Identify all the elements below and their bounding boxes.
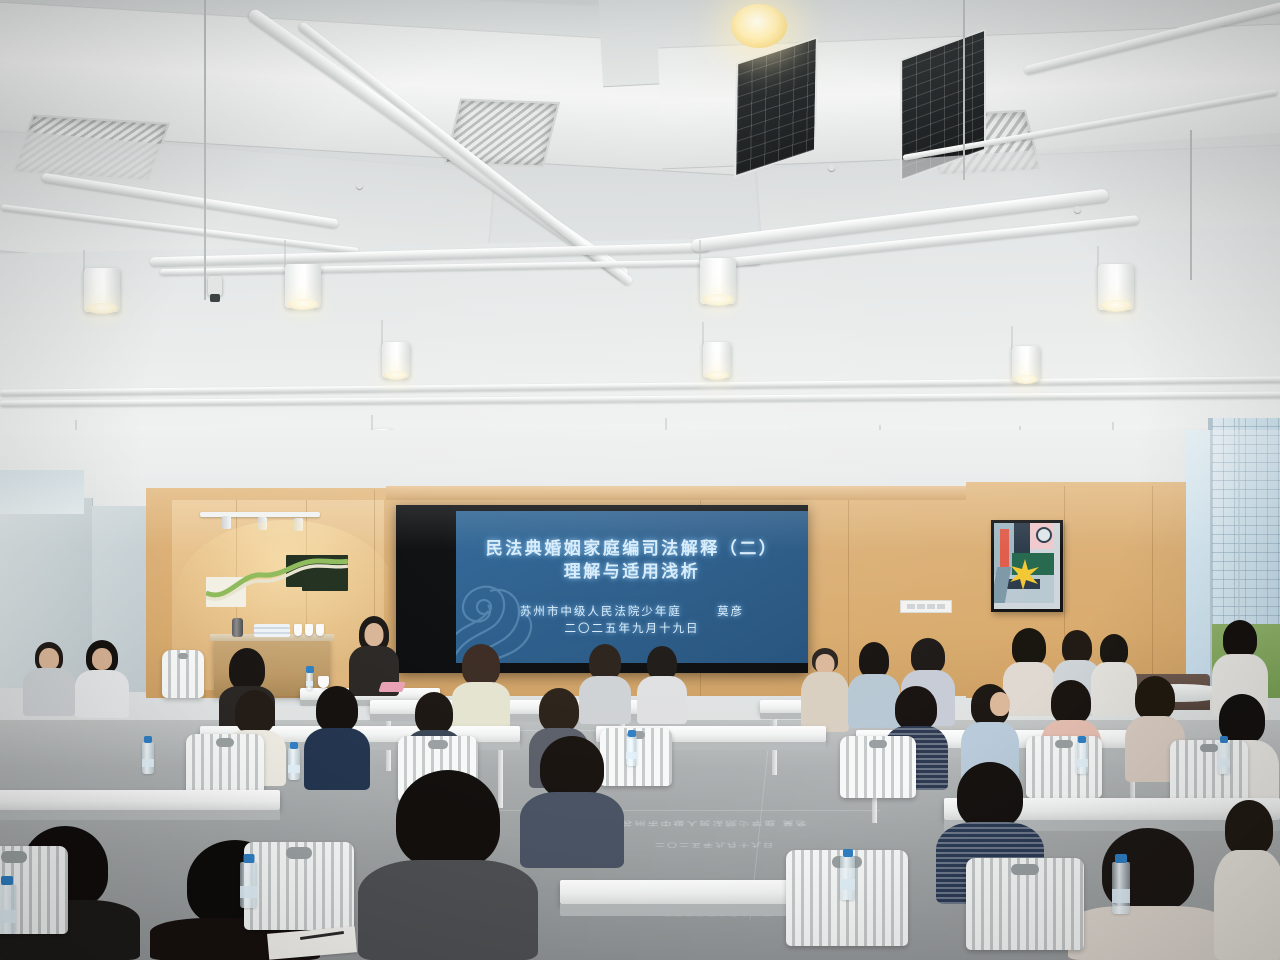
hair (1223, 620, 1257, 658)
torso (1214, 850, 1280, 960)
bottle-cap (1, 876, 13, 885)
head (365, 623, 384, 646)
hair (462, 644, 500, 686)
white-chair (244, 842, 354, 930)
wall-switch-plate[interactable] (900, 600, 952, 613)
spot-light-icon (258, 517, 267, 530)
seated-attendee (1068, 828, 1228, 960)
hair (540, 736, 604, 798)
sprinkler-head-icon (828, 164, 835, 171)
ceiling-hanger-rod (204, 0, 206, 300)
seated-attendee (22, 642, 76, 716)
water-bottle (288, 748, 300, 780)
slide-org-and-presenter: 苏州市中级人民法院少年庭 莫彦 (456, 604, 808, 621)
water-bottle (240, 862, 257, 908)
hair (1012, 628, 1046, 666)
bottle-cap (843, 849, 853, 857)
water-bottle (840, 856, 855, 900)
slide-presenter: 莫彦 (717, 604, 744, 621)
floor-reflection-line1: 苏州市中级人民法院少年庭 莫彦 (600, 819, 830, 828)
seated-attendee (636, 646, 688, 724)
hair (1135, 676, 1175, 720)
torso (637, 676, 687, 724)
paper-cup (294, 624, 302, 636)
desk-edge (0, 810, 280, 820)
water-bottle (0, 884, 16, 934)
white-chair (1170, 740, 1248, 804)
hair (895, 686, 937, 730)
hair (859, 642, 889, 678)
left-glass-strip (0, 470, 84, 514)
ceiling-hanger-rod (963, 0, 965, 180)
bottle-label (1218, 759, 1230, 767)
bottle-label (626, 752, 637, 760)
torso (358, 860, 538, 960)
hair (396, 770, 500, 868)
lecture-room-photo: 民法典婚姻家庭编司法解释（二） 理解与适用浅析 苏州市中级人民法院少年庭 莫彦 … (0, 0, 1280, 960)
sprinkler-head-icon (356, 182, 363, 189)
white-chair (162, 650, 204, 698)
hair (957, 762, 1023, 828)
switch-key[interactable] (907, 604, 915, 609)
office-tower-view (1212, 418, 1280, 634)
ceiling-hanger-rod (1190, 130, 1192, 280)
head (816, 654, 835, 674)
bottle-cap (1078, 736, 1086, 743)
abstract-wave-artwork (206, 555, 348, 607)
switch-key[interactable] (937, 604, 945, 609)
seated-attendee (74, 640, 130, 718)
bottle-label (288, 765, 300, 773)
security-camera-icon (208, 276, 222, 296)
switch-key[interactable] (917, 604, 925, 609)
hair (1062, 630, 1092, 664)
hair (316, 686, 358, 732)
seated-attendee (358, 770, 538, 960)
bottle-label (0, 910, 16, 923)
torso (520, 792, 624, 868)
seated-attendee (1214, 800, 1280, 960)
bottle-label (1076, 759, 1088, 767)
water-bottle (142, 742, 154, 774)
bottle-label (1112, 889, 1130, 903)
bottle-cap (628, 730, 636, 737)
bottle-cap (290, 742, 298, 749)
head (990, 692, 1010, 716)
wood-seam (1152, 486, 1153, 698)
hair (647, 646, 677, 680)
bottle-label (840, 879, 855, 890)
water-bottle (1112, 862, 1130, 914)
water-bottle (626, 736, 637, 766)
framed-painting (991, 520, 1063, 612)
hair (229, 648, 265, 690)
paper-cup (316, 624, 324, 636)
torso (23, 668, 75, 716)
torso (801, 672, 849, 732)
white-chair (840, 736, 916, 798)
torso (1068, 906, 1228, 960)
head (92, 648, 112, 670)
paper-cup (305, 624, 313, 636)
white-chair (966, 858, 1084, 950)
head (39, 648, 59, 670)
slide-org: 苏州市中级人民法院少年庭 (520, 606, 682, 618)
painting-canvas (994, 523, 1060, 609)
star-burst-icon (1008, 557, 1042, 591)
spot-light-icon (222, 516, 231, 529)
water-bottle (1218, 742, 1230, 774)
wave-shape-icon (206, 555, 348, 607)
switch-key[interactable] (927, 604, 935, 609)
training-desk (0, 790, 280, 810)
sprinkler-head-icon (1074, 206, 1081, 213)
hair (1051, 680, 1091, 724)
bottle-label (142, 759, 154, 767)
bottle-cap (243, 854, 254, 863)
slide-title: 民法典婚姻家庭编司法解释（二） 理解与适用浅析 (456, 537, 808, 583)
ceiling-dome-light (731, 4, 787, 48)
bottle-cap (144, 736, 152, 743)
presentation-slide: 民法典婚姻家庭编司法解释（二） 理解与适用浅析 苏州市中级人民法院少年庭 莫彦 … (456, 511, 808, 663)
hair (1225, 800, 1273, 856)
hair (911, 638, 945, 674)
seated-attendee (800, 648, 850, 732)
torso (75, 670, 129, 718)
slide-title-line1: 民法典婚姻家庭编司法解释（二） (456, 537, 808, 560)
hair (235, 690, 275, 734)
wood-trim-top (386, 486, 970, 500)
cup-stack (254, 624, 290, 637)
hair (539, 688, 579, 732)
hair (589, 644, 621, 680)
window-side-pane (1186, 430, 1210, 680)
slide-date: 二〇二五年九月十九日 (456, 621, 808, 638)
slide-subtitle: 苏州市中级人民法院少年庭 莫彦 二〇二五年九月十九日 (456, 604, 808, 638)
floor-reflection-line2: 二〇二五年九月十九日 (610, 841, 820, 849)
bottle-cap (306, 666, 314, 673)
pink-tablet (378, 682, 405, 692)
thermos-icon (232, 618, 243, 637)
bottle-cap (1220, 736, 1228, 743)
hair (415, 692, 453, 734)
water-bottle (1076, 742, 1088, 774)
slide-title-line2: 理解与适用浅析 (456, 560, 808, 583)
bottle-cap (1115, 854, 1127, 863)
seated-attendee (520, 736, 624, 868)
spot-light-icon (294, 518, 303, 531)
exposed-ceiling (0, 0, 1280, 500)
bottle-label (240, 886, 257, 898)
